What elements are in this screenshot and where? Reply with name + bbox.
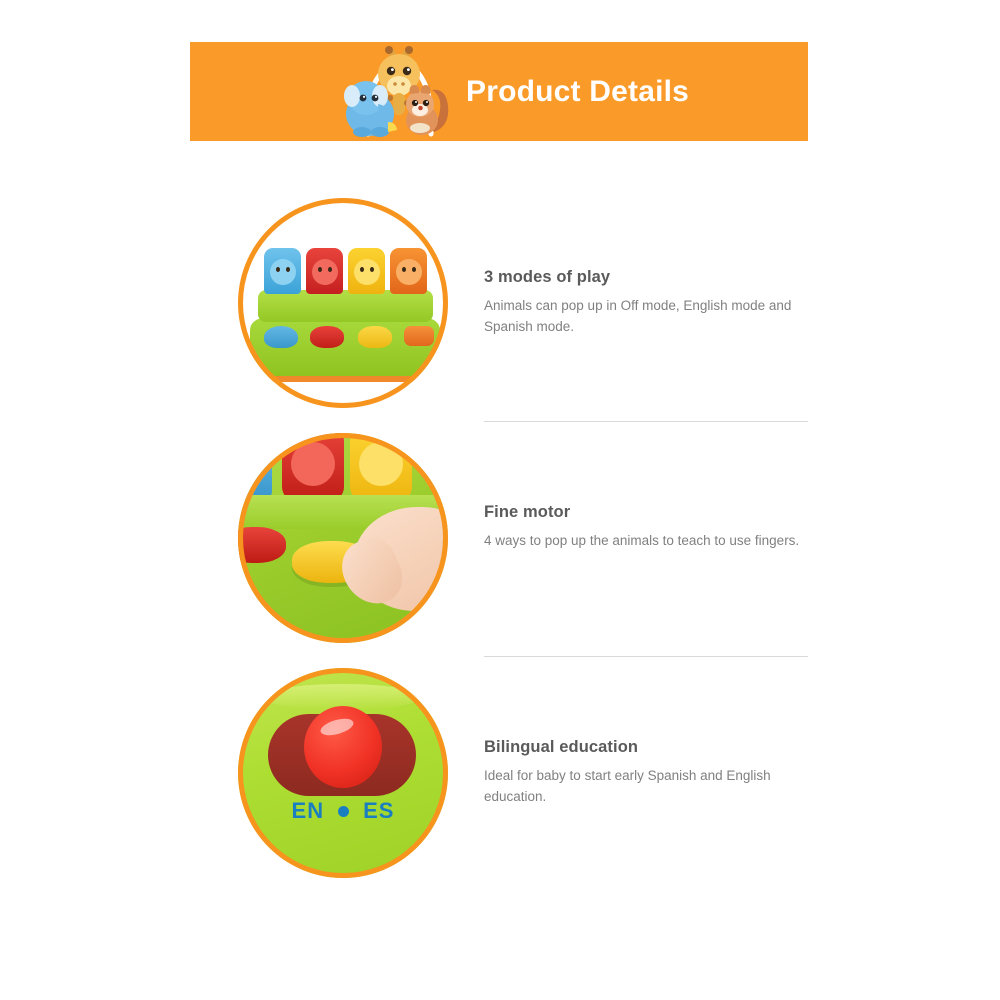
- eye-icon: [402, 267, 406, 272]
- toy-button-slider: [404, 326, 434, 346]
- toy-full-view-image: [238, 198, 448, 408]
- section-divider: [484, 656, 808, 657]
- feature-description: 4 ways to pop up the animals to teach to…: [484, 530, 814, 551]
- eye-icon: [276, 267, 280, 272]
- product-details-banner: Product Details: [190, 42, 808, 141]
- feature-title: Bilingual education: [484, 738, 814, 757]
- feature-title: 3 modes of play: [484, 268, 814, 287]
- child-hand: [330, 485, 448, 635]
- language-selector-knob[interactable]: [304, 706, 382, 788]
- eye-icon: [318, 267, 322, 272]
- image-clip: [238, 433, 448, 643]
- eye-icon: [286, 267, 290, 272]
- eye-icon: [328, 267, 332, 272]
- toy-button-dome: [358, 326, 392, 348]
- language-switch-illustration: EN ES: [238, 668, 448, 878]
- feature-row-2: Fine motor 4 ways to pop up the animals …: [0, 425, 1000, 657]
- language-label-es: ES: [363, 798, 394, 824]
- feature-text-2: Fine motor 4 ways to pop up the animals …: [484, 503, 814, 551]
- image-clip: [238, 198, 448, 408]
- toy-illustration: [238, 198, 448, 408]
- knob-highlight: [319, 716, 356, 739]
- giraffe-face: [359, 442, 403, 486]
- animals-mascot-icon: [338, 46, 456, 138]
- language-switch-image: EN ES: [238, 668, 448, 878]
- image-clip: EN ES: [238, 668, 448, 878]
- animal-monkey: [390, 248, 427, 294]
- eye-icon: [360, 267, 364, 272]
- elephant-face: [270, 259, 296, 285]
- animal-giraffe: [348, 248, 385, 294]
- animal-bear: [306, 248, 343, 294]
- dot-icon: [338, 806, 349, 817]
- feature-description: Animals can pop up in Off mode, English …: [484, 295, 814, 337]
- finger-pressing-button-image: [238, 433, 448, 643]
- product-details-page: Product Details: [0, 0, 1000, 1000]
- eye-icon: [370, 267, 374, 272]
- section-divider: [484, 421, 808, 422]
- toy-button-heart: [310, 326, 344, 348]
- feature-row-3: EN ES Bilingual education Ideal for baby…: [0, 660, 1000, 892]
- monkey-face: [396, 259, 422, 285]
- animal-elephant-partial: [238, 443, 272, 501]
- language-labels: EN ES: [238, 798, 448, 824]
- eye-icon: [412, 267, 416, 272]
- feature-text-3: Bilingual education Ideal for baby to st…: [484, 738, 814, 807]
- finger-illustration: [238, 433, 448, 643]
- animal-elephant: [264, 248, 301, 294]
- language-label-en: EN: [292, 798, 325, 824]
- toy-button-knob: [264, 326, 298, 348]
- feature-description: Ideal for baby to start early Spanish an…: [484, 765, 814, 807]
- feature-title: Fine motor: [484, 503, 814, 522]
- bear-face: [312, 259, 338, 285]
- bear-face: [291, 442, 335, 486]
- feature-row-1: 3 modes of play Animals can pop up in Of…: [0, 190, 1000, 422]
- feature-text-1: 3 modes of play Animals can pop up in Of…: [484, 268, 814, 337]
- giraffe-face: [354, 259, 380, 285]
- toy-shelf: [258, 290, 433, 322]
- toy-button-heart: [238, 527, 286, 563]
- page-title: Product Details: [466, 75, 689, 109]
